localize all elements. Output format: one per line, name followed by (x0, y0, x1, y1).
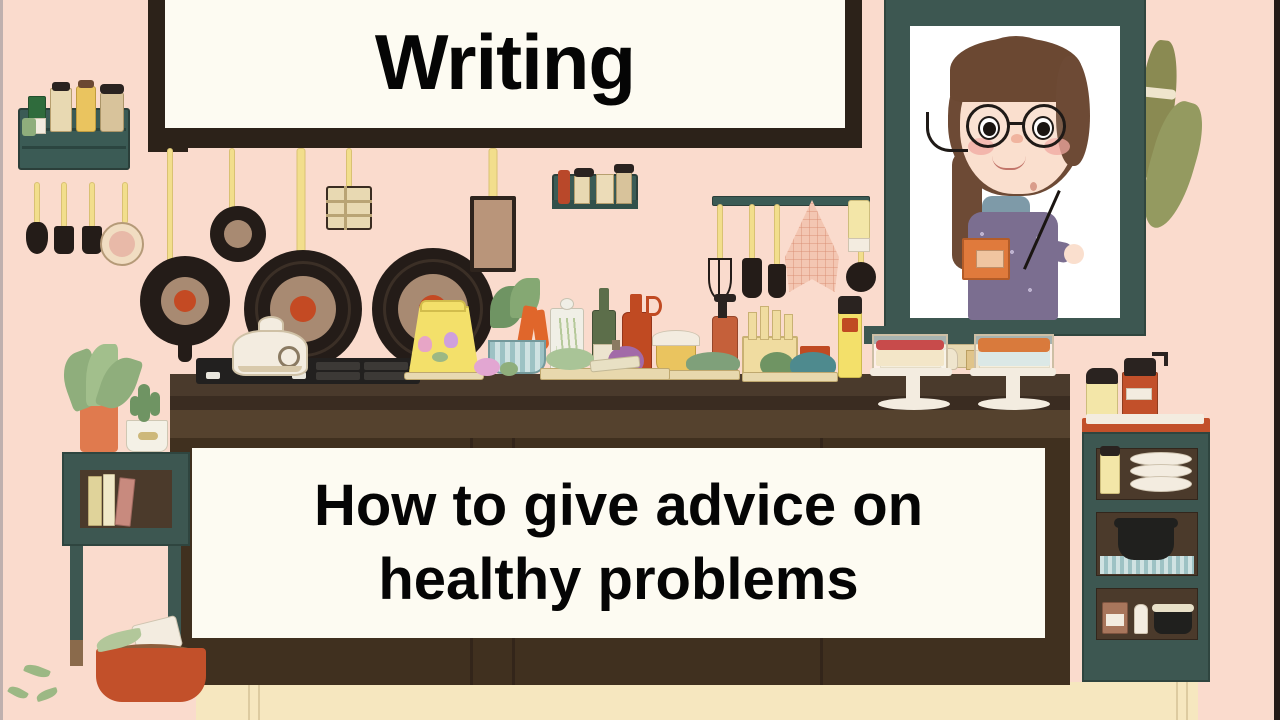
bottom-black-dish (1154, 610, 1192, 634)
veg-board (742, 372, 838, 382)
crate-bottle (748, 312, 757, 340)
book-spine (88, 476, 102, 526)
shelf-jar-lid (574, 168, 594, 177)
stove-grate (316, 372, 360, 380)
kettle-flower (444, 332, 458, 348)
floor-plank (258, 682, 260, 720)
honey-jar-lid (78, 80, 94, 88)
dish-lid (1152, 604, 1194, 612)
plate-stacked (1130, 476, 1192, 492)
caption-line-2: healthy problems (314, 543, 923, 617)
cake-topping-right (978, 338, 1050, 352)
honey-jar (76, 86, 96, 132)
cake-stand-stem-left (906, 372, 920, 400)
strainer-mesh-inner (109, 231, 135, 257)
teapot-base (238, 366, 302, 372)
glass-jar-stopper (560, 298, 574, 310)
slide-left-edge (0, 0, 3, 720)
cake-plate-right (970, 368, 1056, 376)
bottle-neck (599, 288, 609, 312)
title-textbox: Writing (165, 0, 845, 128)
rack-slat (22, 146, 126, 149)
teacher-hand (1064, 244, 1084, 264)
floor-plank (1186, 682, 1188, 720)
counter-front-highlight (170, 410, 1070, 438)
caption-line-1: How to give advice on (314, 469, 923, 543)
black-pot (1118, 524, 1174, 560)
book-spine (103, 474, 115, 526)
jar-cream (50, 88, 72, 132)
black-pot-lid (1114, 518, 1178, 528)
plant-pot-terracotta (80, 404, 118, 452)
teacher-pupil-right (1037, 122, 1050, 136)
cabinet-jar (1100, 452, 1120, 494)
caption-textbox: How to give advice on healthy problems (192, 448, 1045, 638)
radish (474, 358, 500, 376)
oil-bottle-label (848, 238, 870, 252)
jug-handle (646, 296, 662, 316)
slide-right-edge (1274, 0, 1280, 720)
honey-jar-opening (652, 330, 700, 346)
onion-stem (612, 340, 620, 350)
glasses-bridge-icon (1008, 122, 1024, 125)
spice-jar-lid (100, 84, 124, 94)
shelf-jar-3 (616, 170, 632, 204)
hanging-spatula (54, 182, 74, 254)
slide-canvas: Writing How to give advice on healthy pr… (0, 0, 1280, 720)
shelf-bottle-red (558, 170, 570, 204)
pan-hook-1 (166, 148, 174, 268)
salt-shaker (1134, 604, 1148, 634)
cactus-arm-icon (150, 392, 160, 416)
stove-grate (364, 372, 408, 380)
stove-grate (364, 362, 408, 370)
herb-bunch-small (22, 118, 36, 136)
potato-basket (96, 648, 206, 702)
hanging-turner (82, 182, 102, 254)
waffle-line (326, 214, 372, 217)
hanging-pan-2 (210, 206, 266, 262)
shelf-jar-3-lid (614, 164, 634, 173)
cake-topping-left (876, 340, 944, 350)
shelf-jar-2 (596, 174, 614, 204)
kettle-leaf (432, 352, 448, 362)
grinder-top (1124, 358, 1156, 376)
pot-bow (138, 432, 158, 440)
pan-hook-2 (228, 148, 236, 212)
caption-text-block: How to give advice on healthy problems (314, 469, 923, 617)
waffle-press (326, 186, 372, 230)
floor-right-patch (1198, 682, 1280, 720)
stove-grate (316, 362, 360, 370)
cabinet-cloth (1086, 414, 1204, 424)
pan-spout (178, 340, 192, 362)
crate-bottle (772, 310, 781, 340)
cabinet-jar-lid (1100, 446, 1120, 456)
stove-knob[interactable] (206, 372, 220, 379)
waffle-line (344, 186, 347, 230)
book-label (976, 250, 1004, 268)
white-jar-lid (1086, 368, 1118, 384)
waffle-hook (345, 148, 353, 188)
hanging-turner-2 (768, 204, 786, 296)
floor-plank (1176, 682, 1178, 720)
veg-small (500, 362, 518, 376)
teapot-handle (278, 346, 300, 368)
jar-lid (52, 82, 70, 91)
teapot-lid (258, 316, 284, 332)
cake-plate-left (870, 368, 952, 376)
cutting-board (660, 370, 740, 380)
lettuce (546, 348, 594, 370)
tall-jar-lid (838, 296, 862, 314)
teacher-pupil-left (983, 122, 996, 136)
jar-label-red (842, 318, 858, 332)
kettle-flower (418, 336, 432, 352)
wall-picture-small (470, 196, 516, 272)
hanging-spoon (26, 182, 48, 254)
crate-bottle (760, 306, 769, 340)
crate-bottle (784, 314, 793, 340)
table-leg-foot (70, 640, 83, 666)
cake-stand-stem-right (1006, 372, 1020, 400)
pan-hook-3 (296, 148, 306, 262)
cake-body-left (876, 350, 944, 366)
kettle-base (404, 372, 484, 380)
floor-plank (248, 682, 250, 720)
hanging-pan-1 (140, 256, 230, 346)
shelf-jar-1 (574, 176, 590, 204)
grinder-crank-arm (1164, 352, 1168, 366)
grinder-label (1126, 388, 1152, 400)
whisk-handle (716, 204, 724, 260)
teacher-chin-detail (1030, 182, 1037, 191)
pump-head (714, 294, 736, 302)
hanging-spatula-2 (742, 204, 762, 296)
oil-bottle-hanging (848, 200, 870, 240)
page-title: Writing (375, 23, 635, 101)
teacher-nose (1011, 134, 1023, 143)
cactus-arm-icon (130, 396, 140, 416)
waffle-line (326, 200, 372, 203)
table-leg (70, 546, 83, 640)
jug-neck (630, 294, 642, 314)
cake-body-right (978, 352, 1050, 366)
bottom-jar-label (1106, 614, 1124, 626)
spice-jar (100, 92, 124, 132)
kettle-lid (420, 300, 466, 312)
